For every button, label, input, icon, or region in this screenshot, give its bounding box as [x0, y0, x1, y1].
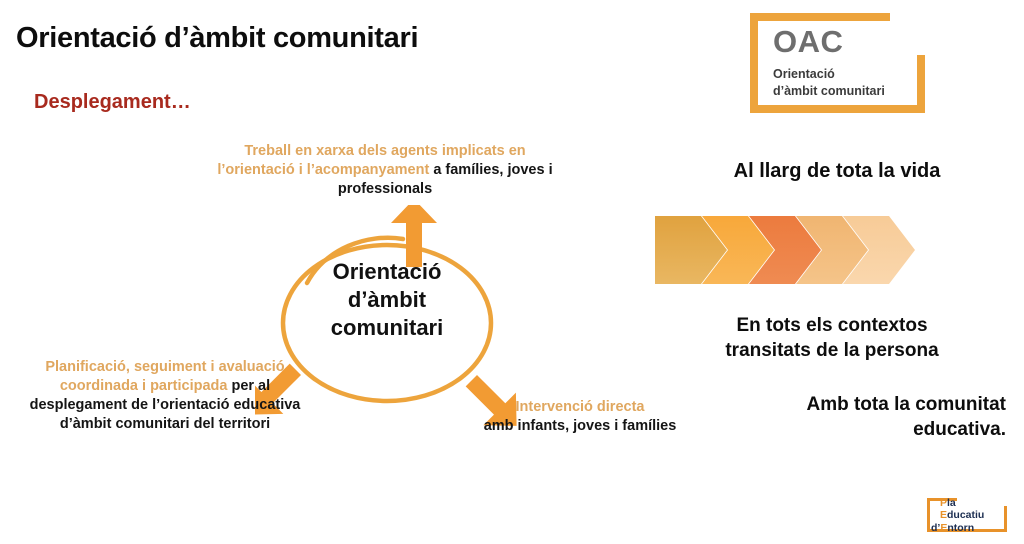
oac-subtitle-line-2: d’àmbit comunitari — [773, 83, 885, 100]
statement-contextos: En tots els contextos transitats de la p… — [640, 313, 1024, 364]
ped-logo-line-3-rest: ntorn — [947, 522, 974, 534]
ped-logo-line-2: Educatiu — [931, 509, 984, 521]
statement-contextos-line-1: En tots els contextos — [640, 313, 1024, 338]
diagram-label-top: Treball en xarxa dels agents implicats e… — [205, 142, 565, 199]
diagram-label-left: Planificació, seguiment i avaluació coor… — [20, 358, 310, 435]
ped-logo-text: Pla Educatiu d’Entorn — [931, 497, 984, 534]
pla-educatiu-entorn-logo: Pla Educatiu d’Entorn — [923, 494, 1015, 536]
cycle-center-label: Orientació d’àmbit comunitari — [292, 258, 482, 342]
statement-comunitat-line-1: Amb tota la comunitat — [656, 392, 1006, 417]
chevron-sequence — [655, 214, 975, 286]
oac-logo-text: OAC Orientació d’àmbit comunitari — [773, 26, 885, 100]
oac-subtitle: Orientació d’àmbit comunitari — [773, 66, 885, 100]
ped-logo-line-3: d’Entorn — [931, 522, 984, 534]
cycle-center-line-1: Orientació — [292, 258, 482, 286]
section-subtitle: Desplegament… — [34, 91, 191, 114]
ped-logo-line-3-pre: d’ — [931, 522, 940, 534]
statement-al-llarg: Al llarg de tota la vida — [650, 160, 1024, 183]
cycle-diagram: Orientació d’àmbit comunitari Treball en… — [0, 130, 700, 490]
statement-contextos-line-2: transitats de la persona — [640, 338, 1024, 363]
cycle-center-line-2: d’àmbit — [292, 286, 482, 314]
cycle-center-line-3: comunitari — [292, 314, 482, 342]
statement-comunitat: Amb tota la comunitat educativa. — [656, 392, 1024, 443]
ped-logo-line-1-accent: P — [940, 497, 947, 509]
ped-logo-line-1-rest: la — [947, 497, 956, 509]
statement-comunitat-line-2: educativa. — [656, 417, 1006, 442]
slide-canvas: Orientació d’àmbit comunitari Desplegame… — [0, 0, 1024, 544]
ped-logo-line-2-accent: E — [940, 509, 947, 521]
oac-logo: OAC Orientació d’àmbit comunitari — [745, 8, 945, 123]
oac-acronym: OAC — [773, 26, 885, 57]
ped-logo-line-2-rest: ducatiu — [947, 509, 984, 521]
oac-subtitle-line-1: Orientació — [773, 66, 885, 83]
chevron-sequence-graphic — [655, 214, 975, 286]
ped-logo-line-1: Pla — [931, 497, 984, 509]
page-title: Orientació d’àmbit comunitari — [16, 22, 418, 55]
